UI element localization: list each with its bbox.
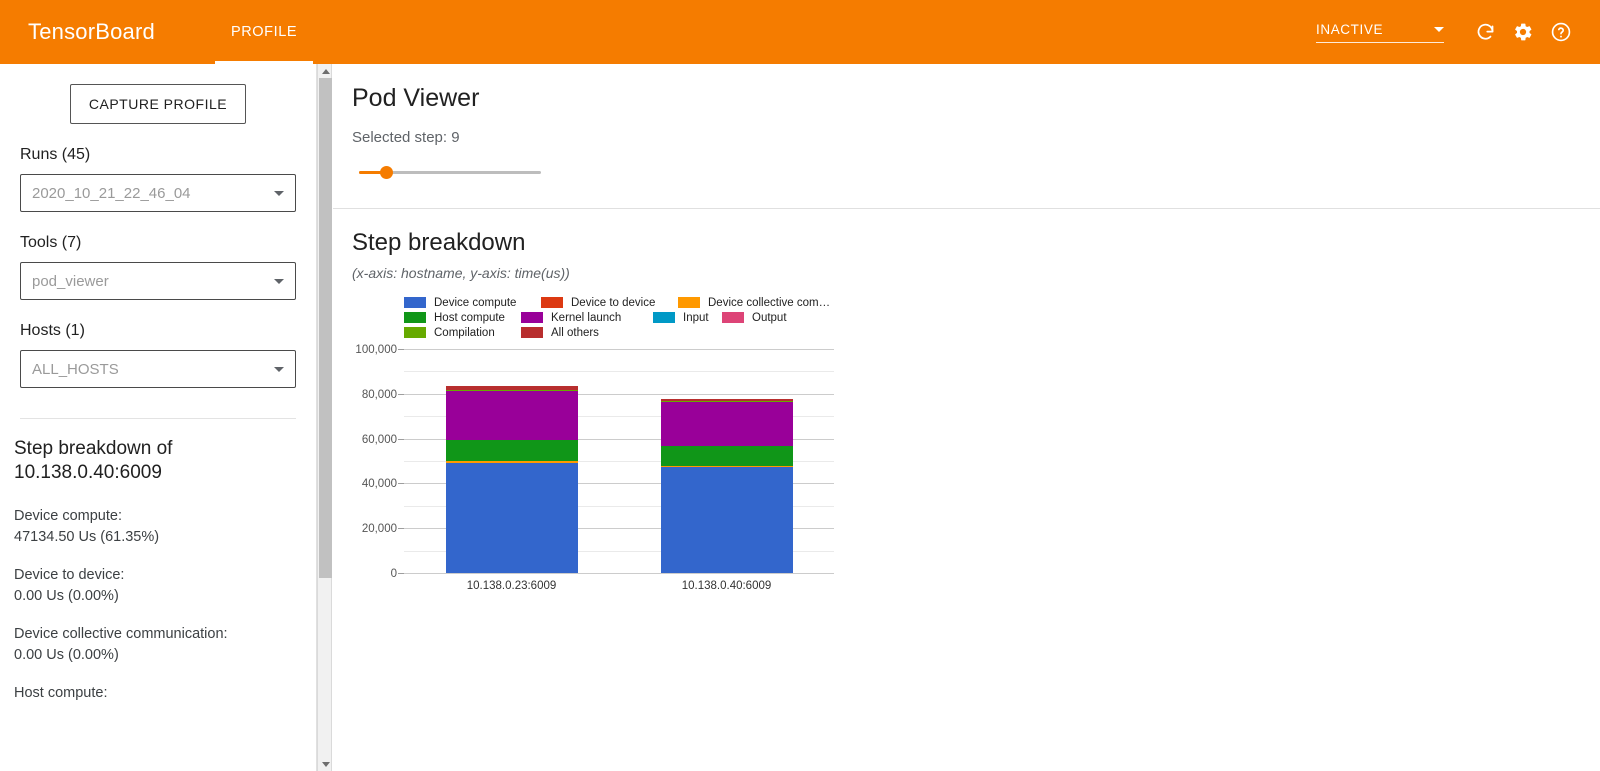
legend-swatch (404, 297, 426, 308)
page-title: Pod Viewer (352, 84, 1600, 113)
stat-value: 0.00 Us (0.00%) (14, 645, 296, 666)
step-slider[interactable] (359, 164, 541, 182)
legend-label: Input (683, 312, 709, 324)
legend-swatch (521, 312, 543, 323)
stat-row: Host compute: (14, 683, 296, 704)
stat-key: Device compute: (14, 506, 296, 527)
legend-item[interactable]: Output (722, 312, 787, 324)
gridline-minor (404, 371, 834, 372)
hosts-value: ALL_HOSTS (32, 361, 119, 378)
slider-knob[interactable] (380, 166, 393, 179)
legend-swatch (521, 327, 543, 338)
legend-item[interactable]: Host compute (404, 312, 505, 324)
y-axis-tick-mark (398, 394, 404, 395)
section-title: Step breakdown (352, 229, 1600, 257)
stats-title: Step breakdown of 10.138.0.40:6009 (14, 437, 296, 486)
legend-item[interactable]: Kernel launch (521, 312, 621, 324)
legend-item[interactable]: All others (521, 327, 599, 339)
chevron-down-icon (274, 367, 284, 372)
sidebar-controls: CAPTURE PROFILE Runs (45) 2020_10_21_22_… (0, 64, 316, 419)
chevron-down-icon (274, 279, 284, 284)
header-actions: INACTIVE (1316, 13, 1580, 51)
y-axis-tick-mark (398, 573, 404, 574)
stat-value: 0.00 Us (0.00%) (14, 586, 296, 607)
bar-segment[interactable] (446, 440, 578, 461)
stat-key: Device to device: (14, 565, 296, 586)
app-brand: TensorBoard (28, 19, 155, 45)
x-axis-tick-label: 10.138.0.23:6009 (467, 580, 557, 592)
scroll-up-arrow-icon[interactable] (318, 64, 333, 78)
stat-key: Device collective communication: (14, 624, 296, 645)
y-axis-tick-label: 60,000 (362, 434, 397, 446)
bar-segment[interactable] (661, 466, 793, 467)
sidebar: CAPTURE PROFILE Runs (45) 2020_10_21_22_… (0, 64, 317, 771)
legend-swatch (653, 312, 675, 323)
legend-label: All others (551, 327, 599, 339)
stat-row: Device compute: 47134.50 Us (61.35%) (14, 506, 296, 548)
stat-key: Host compute: (14, 683, 296, 704)
chart-plot-area: 020,00040,00060,00080,000100,00010.138.0… (404, 349, 834, 574)
help-circle-icon[interactable] (1542, 13, 1580, 51)
x-axis-tick-label: 10.138.0.40:6009 (682, 580, 772, 592)
main-content: Pod Viewer Selected step: 9 Step breakdo… (333, 64, 1600, 771)
bar-segment[interactable] (661, 401, 793, 402)
section-subtitle: (x-axis: hostname, y-axis: time(us)) (352, 265, 1600, 281)
legend-swatch (678, 297, 700, 308)
tab-profile[interactable]: PROFILE (215, 0, 313, 64)
bar-segment[interactable] (661, 399, 793, 402)
stat-row: Device collective communication: 0.00 Us… (14, 624, 296, 666)
tools-field: Tools (7) pod_viewer (20, 234, 296, 300)
chart-bar[interactable] (661, 399, 793, 573)
legend-swatch (404, 312, 426, 323)
capture-profile-button[interactable]: CAPTURE PROFILE (70, 84, 246, 124)
legend-row: Device computeDevice to deviceDevice col… (404, 295, 844, 310)
legend-label: Device to device (571, 297, 655, 309)
bar-segment[interactable] (661, 467, 793, 573)
run-status-dropdown[interactable]: INACTIVE (1316, 22, 1444, 43)
legend-label: Compilation (434, 327, 495, 339)
y-axis-tick-mark (398, 439, 404, 440)
run-status-value: INACTIVE (1316, 22, 1383, 37)
chart-bar[interactable] (446, 386, 578, 573)
chart-legend: Device computeDevice to deviceDevice col… (404, 295, 844, 340)
legend-label: Device collective com… (708, 297, 830, 309)
hosts-label: Hosts (1) (20, 322, 296, 340)
legend-label: Kernel launch (551, 312, 621, 324)
bar-segment[interactable] (446, 386, 578, 389)
y-axis-tick-label: 0 (391, 568, 397, 580)
legend-item[interactable]: Device collective com… (678, 297, 830, 309)
y-axis-tick-mark (398, 349, 404, 350)
legend-label: Device compute (434, 297, 516, 309)
app-header: TensorBoard PROFILE INACTIVE (0, 0, 1600, 64)
hosts-field: Hosts (1) ALL_HOSTS (20, 322, 296, 388)
legend-swatch (404, 327, 426, 338)
y-axis-tick-label: 40,000 (362, 478, 397, 490)
bar-segment[interactable] (661, 446, 793, 466)
refresh-icon[interactable] (1466, 13, 1504, 51)
tools-label: Tools (7) (20, 234, 296, 252)
selected-step-label: Selected step: 9 (352, 129, 1600, 146)
stat-value: 47134.50 Us (61.35%) (14, 527, 296, 548)
y-axis-tick-label: 20,000 (362, 523, 397, 535)
y-axis-tick-label: 100,000 (355, 344, 397, 356)
gridline-major (404, 573, 834, 574)
runs-value: 2020_10_21_22_46_04 (32, 185, 191, 202)
y-axis-tick-label: 80,000 (362, 389, 397, 401)
sidebar-scrollbar[interactable] (317, 64, 332, 771)
bar-segment[interactable] (661, 402, 793, 446)
tools-value: pod_viewer (32, 273, 109, 290)
header-tabs: PROFILE (215, 0, 313, 64)
legend-swatch (722, 312, 744, 323)
legend-swatch (541, 297, 563, 308)
bar-segment[interactable] (446, 391, 578, 440)
stat-row: Device to device: 0.00 Us (0.00%) (14, 565, 296, 607)
settings-gear-icon[interactable] (1504, 13, 1542, 51)
bar-segment[interactable] (446, 463, 578, 573)
legend-item[interactable]: Input (653, 312, 709, 324)
legend-item[interactable]: Device compute (404, 297, 516, 309)
y-axis-tick-mark (398, 483, 404, 484)
runs-field: Runs (45) 2020_10_21_22_46_04 (20, 146, 296, 212)
tools-dropdown[interactable]: pod_viewer (20, 262, 296, 300)
bar-segment[interactable] (446, 390, 578, 391)
legend-label: Output (752, 312, 787, 324)
legend-row: Host computeKernel launchInputOutput (404, 310, 844, 325)
runs-label: Runs (45) (20, 146, 296, 164)
tab-profile-label: PROFILE (231, 24, 297, 40)
capture-profile-wrap: CAPTURE PROFILE (20, 64, 296, 124)
gridline-major (404, 349, 834, 350)
chevron-down-icon (274, 191, 284, 196)
hosts-dropdown[interactable]: ALL_HOSTS (20, 350, 296, 388)
legend-row: CompilationAll others (404, 325, 844, 340)
step-breakdown-stats: Step breakdown of 10.138.0.40:6009 Devic… (0, 419, 316, 704)
y-axis-tick-mark (398, 528, 404, 529)
bar-segment[interactable] (446, 461, 578, 462)
step-breakdown-chart: Device computeDevice to deviceDevice col… (352, 293, 852, 588)
scrollbar-thumb[interactable] (319, 78, 332, 578)
runs-dropdown[interactable]: 2020_10_21_22_46_04 (20, 174, 296, 212)
legend-item[interactable]: Device to device (541, 297, 655, 309)
legend-item[interactable]: Compilation (404, 327, 495, 339)
section-divider (333, 208, 1600, 209)
legend-label: Host compute (434, 312, 505, 324)
chevron-down-icon (1434, 27, 1444, 32)
scroll-down-arrow-icon[interactable] (318, 757, 333, 771)
